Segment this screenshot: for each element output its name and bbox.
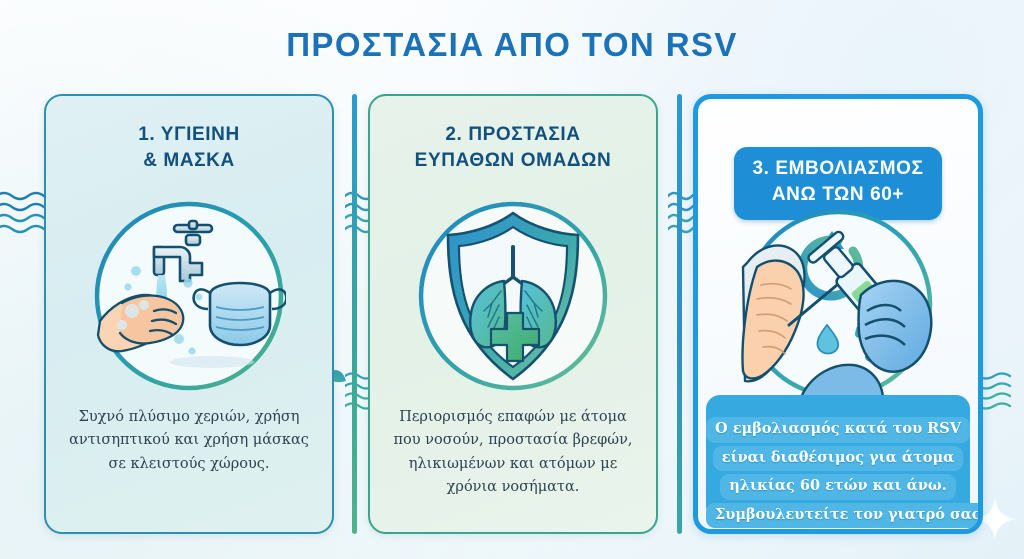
body-line: Ο εμβολιασμός κατά του RSV: [706, 417, 970, 443]
syringe-vaccination-arm-icon: [741, 207, 935, 401]
card-heading-vaccination-wrap: 3. ΕΜΒΟΛΙΑΣΜΟΣ ΑΝΩ ΤΩΝ 60+: [698, 99, 978, 220]
card-hygiene-mask[interactable]: 1. ΥΓΙΕΙΝΗ & ΜΑΣΚΑ: [44, 94, 334, 534]
card-body-panel-vaccination: Ο εμβολιασμός κατά του RSV είναι διαθέσι…: [706, 395, 970, 520]
body-line: είναι διαθέσιμος για άτομα: [713, 446, 963, 472]
card-vulnerable-groups[interactable]: 2. ΠΡΟΣΤΑΣΙΑ ΕΥΠΑΘΩΝ ΟΜΑΔΩΝ: [368, 94, 658, 534]
card-heading-vulnerable: 2. ΠΡΟΣΤΑΣΙΑ ΕΥΠΑΘΩΝ ΟΜΑΔΩΝ: [370, 122, 656, 174]
body-line: Συμβουλευτείτε τον γιατρό σας.: [706, 503, 983, 529]
handwashing-faucet-mask-icon: [92, 199, 286, 393]
card-body-hygiene: Συχνό πλύσιμο χεριών, χρήση αντισηπτικού…: [60, 406, 318, 476]
card-body-vaccination: Ο εμβολιασμός κατά του RSV είναι διαθέσι…: [706, 417, 970, 531]
body-line: ηλικίας 60 ετών και άνω.: [720, 474, 956, 500]
card-body-vulnerable: Περιορισμός επαφών με άτομα που νοσούν, …: [384, 406, 642, 500]
infographic-root: ΠΡΟΣΤΑΣΙΑ ΑΠΟ ΤΟΝ RSV: [0, 0, 1024, 559]
page-title: ΠΡΟΣΤΑΣΙΑ ΑΠΟ ΤΟΝ RSV: [0, 26, 1024, 64]
card-heading-hygiene: 1. ΥΓΙΕΙΝΗ & ΜΑΣΚΑ: [46, 122, 332, 174]
vertical-divider-1: [352, 94, 357, 534]
card-vaccination-60plus[interactable]: 3. ΕΜΒΟΛΙΑΣΜΟΣ ΑΝΩ ΤΩΝ 60+: [693, 94, 983, 534]
vertical-divider-2: [677, 94, 682, 534]
shield-lungs-cross-icon: [416, 199, 610, 393]
